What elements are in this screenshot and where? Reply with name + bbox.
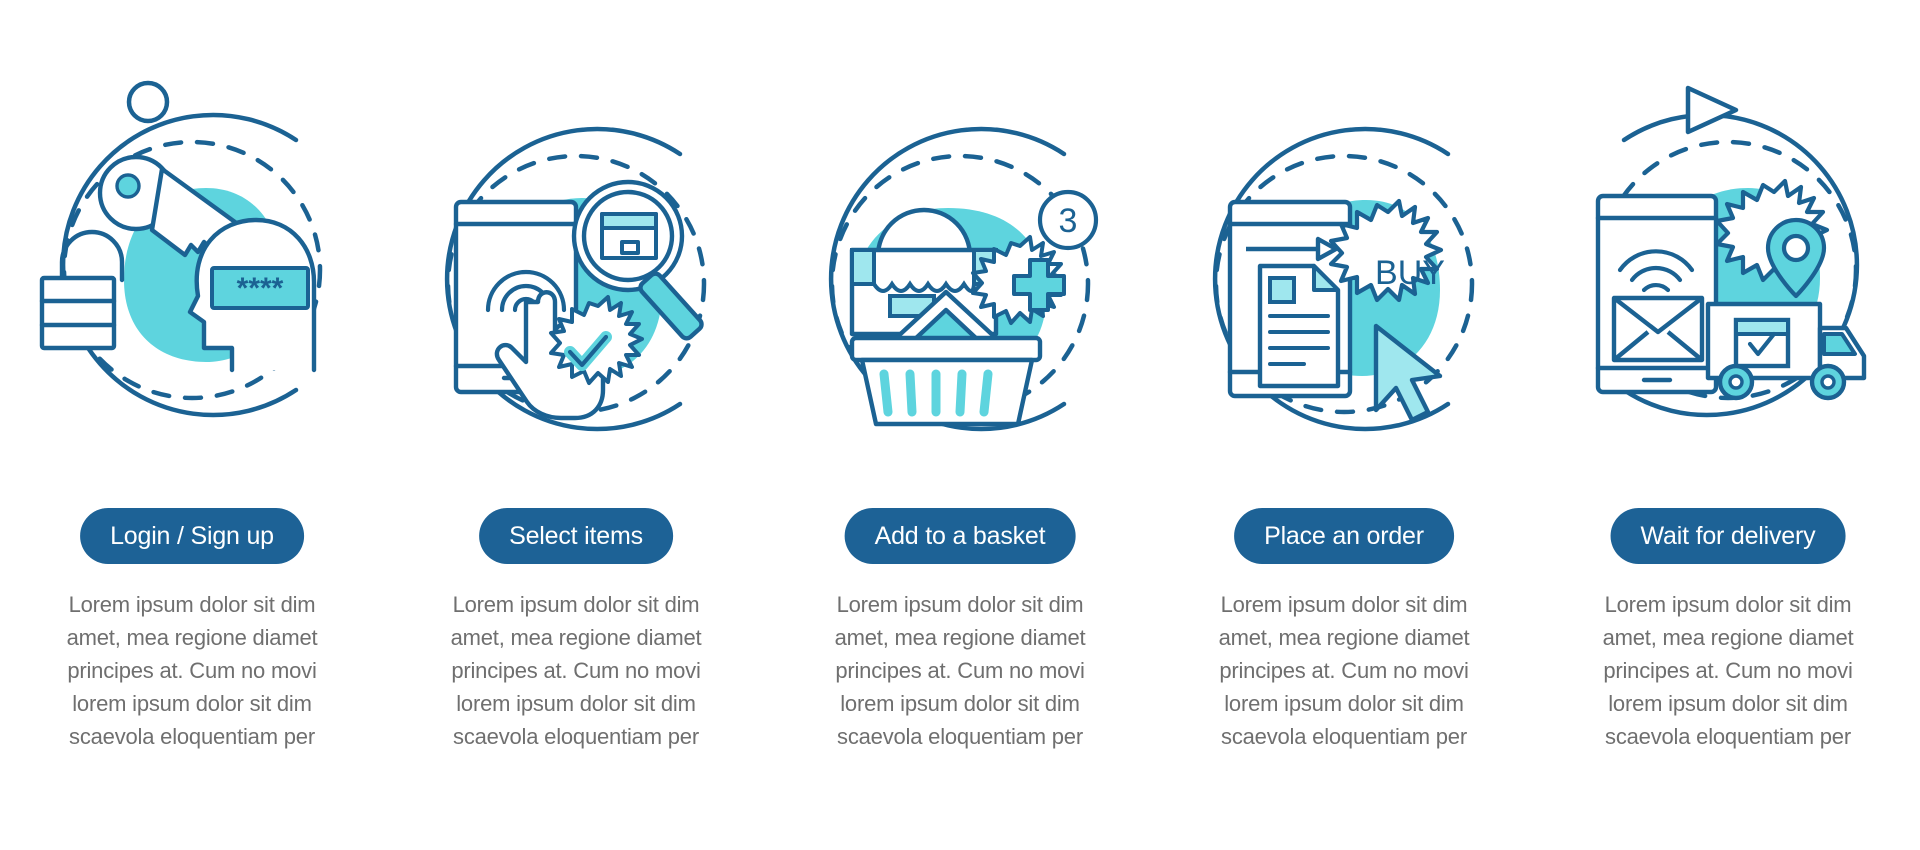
- step-list: **** Login / Sign up Lorem ipsum dolor s…: [0, 0, 1920, 850]
- password-mask-text: ****: [237, 272, 284, 305]
- step-item-5[interactable]: Wait for delivery Lorem ipsum dolor sit …: [1536, 0, 1920, 850]
- infographic-canvas: **** Login / Sign up Lorem ipsum dolor s…: [0, 0, 1920, 850]
- step-3-button[interactable]: Add to a basket: [845, 508, 1076, 564]
- step-item-2[interactable]: Select items Lorem ipsum dolor sit dim a…: [384, 0, 768, 850]
- document-icon: [1260, 266, 1338, 386]
- step-2-description: Lorem ipsum dolor sit dim amet, mea regi…: [442, 588, 710, 753]
- step-3-illustration: 3: [768, 84, 1152, 474]
- count-bubble-text: 3: [1059, 202, 1078, 240]
- product-box-icon: [602, 214, 656, 258]
- circle-start-marker: [129, 83, 167, 121]
- smartphone-icon: [1598, 196, 1716, 392]
- step-item-3[interactable]: 3 Add to a basket Lorem ipsum dolor sit …: [768, 0, 1152, 850]
- step-2-illustration: [384, 84, 768, 474]
- padlock-open-icon: [42, 232, 122, 348]
- password-field-icon: ****: [212, 268, 308, 308]
- buy-badge-text: BUY: [1375, 254, 1445, 292]
- step-2-button[interactable]: Select items: [479, 508, 673, 564]
- count-bubble-icon: 3: [1040, 192, 1096, 248]
- step-4-description: Lorem ipsum dolor sit dim amet, mea regi…: [1210, 588, 1478, 753]
- step-1-illustration: ****: [0, 70, 384, 460]
- step-item-4[interactable]: BUY Place an order Lorem ipsum dolor sit…: [1152, 0, 1536, 850]
- step-1-button[interactable]: Login / Sign up: [80, 508, 304, 564]
- step-4-button[interactable]: Place an order: [1234, 508, 1454, 564]
- step-5-illustration: [1536, 70, 1920, 460]
- step-1-description: Lorem ipsum dolor sit dim amet, mea regi…: [58, 588, 326, 753]
- step-3-description: Lorem ipsum dolor sit dim amet, mea regi…: [826, 588, 1094, 753]
- play-flag-end-marker: [1688, 88, 1736, 132]
- step-4-illustration: BUY: [1152, 84, 1536, 474]
- step-item-1[interactable]: **** Login / Sign up Lorem ipsum dolor s…: [0, 0, 384, 850]
- step-5-description: Lorem ipsum dolor sit dim amet, mea regi…: [1594, 588, 1862, 753]
- step-5-button[interactable]: Wait for delivery: [1611, 508, 1846, 564]
- envelope-icon: [1614, 298, 1702, 360]
